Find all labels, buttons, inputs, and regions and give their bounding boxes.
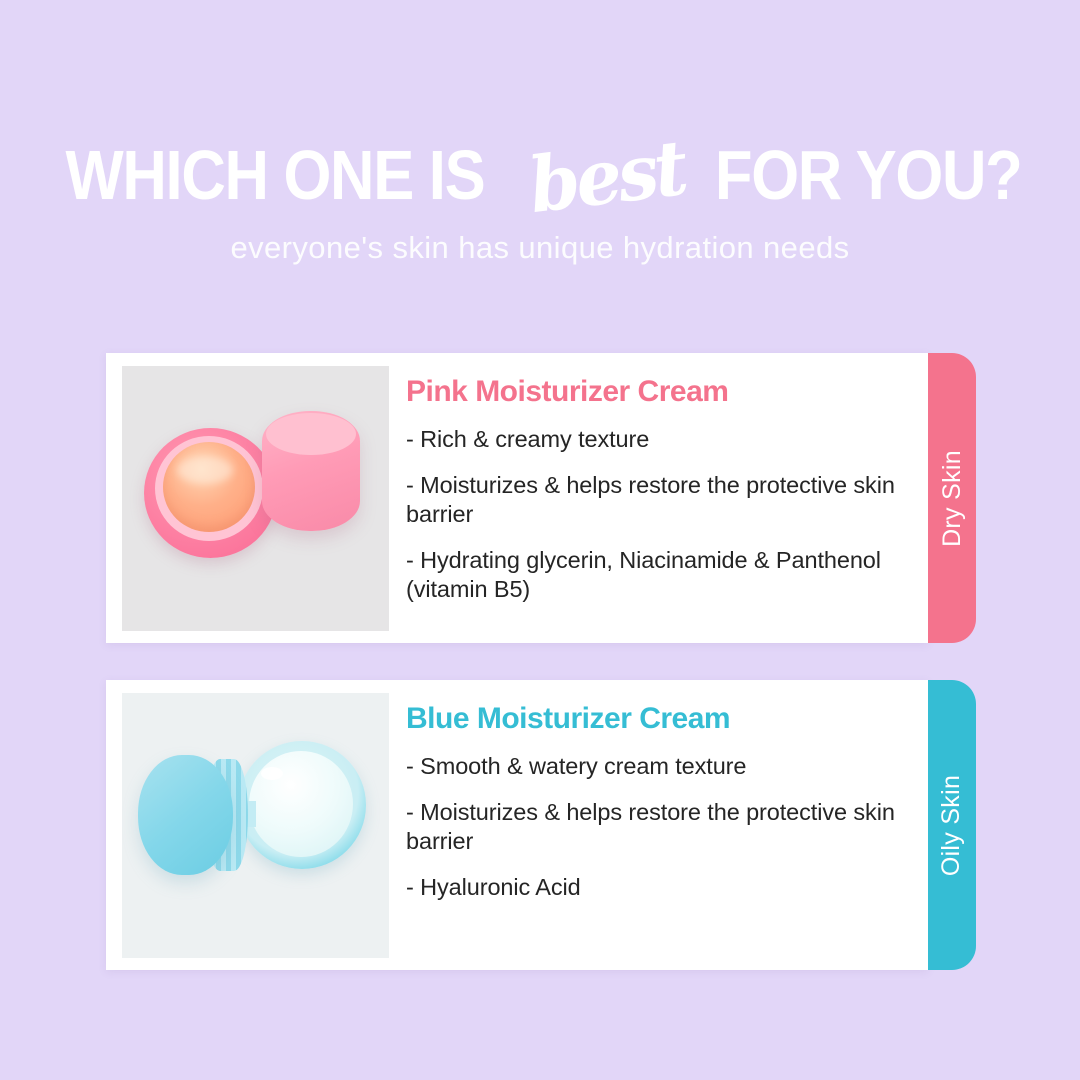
card-text-column: Blue Moisturizer Cream - Smooth & watery…	[389, 680, 928, 919]
card-inner: Pink Moisturizer Cream - Rich & creamy t…	[106, 353, 928, 643]
list-item: - Hyaluronic Acid	[406, 873, 900, 902]
headline-script-word: best	[525, 133, 688, 221]
blue-jar-lid-icon	[138, 755, 233, 875]
side-tab-label: Dry Skin	[938, 450, 967, 547]
blue-card-bullet-list: - Smooth & watery cream texture - Moistu…	[406, 752, 900, 902]
side-tab-label: Oily Skin	[938, 774, 967, 875]
product-card-pink[interactable]: Pink Moisturizer Cream - Rich & creamy t…	[106, 353, 928, 643]
headline-part-1: WHICH ONE IS	[66, 140, 485, 210]
pink-card-title: Pink Moisturizer Cream	[406, 375, 900, 409]
blue-card-title: Blue Moisturizer Cream	[406, 702, 900, 736]
list-item: - Moisturizes & helps restore the protec…	[406, 798, 900, 856]
side-tab-dry-skin[interactable]: Dry Skin	[928, 353, 976, 643]
headline-part-2: FOR YOU?	[715, 140, 1022, 210]
pink-jar-lid-icon	[262, 411, 360, 531]
list-item: - Moisturizes & helps restore the protec…	[406, 471, 900, 529]
list-item: - Smooth & watery cream texture	[406, 752, 900, 781]
pink-moisturizer-jar-photo	[122, 366, 389, 631]
blue-moisturizer-jar-photo	[122, 693, 389, 958]
page-subtitle: everyone's skin has unique hydration nee…	[0, 230, 1080, 266]
pink-jar-cream-icon	[163, 442, 255, 532]
list-item: - Hydrating glycerin, Niacinamide & Pant…	[406, 546, 900, 604]
card-inner: Blue Moisturizer Cream - Smooth & watery…	[106, 680, 928, 970]
page-headline: WHICH ONE ISbestFOR YOU?	[0, 138, 1080, 210]
blue-jar-cream-icon	[249, 751, 353, 857]
card-text-column: Pink Moisturizer Cream - Rich & creamy t…	[389, 353, 928, 621]
list-item: - Rich & creamy texture	[406, 425, 900, 454]
header: WHICH ONE ISbestFOR YOU? everyone's skin…	[0, 0, 1080, 320]
side-tab-oily-skin[interactable]: Oily Skin	[928, 680, 976, 970]
pink-card-bullet-list: - Rich & creamy texture - Moisturizes & …	[406, 425, 900, 604]
product-card-blue[interactable]: Blue Moisturizer Cream - Smooth & watery…	[106, 680, 928, 970]
